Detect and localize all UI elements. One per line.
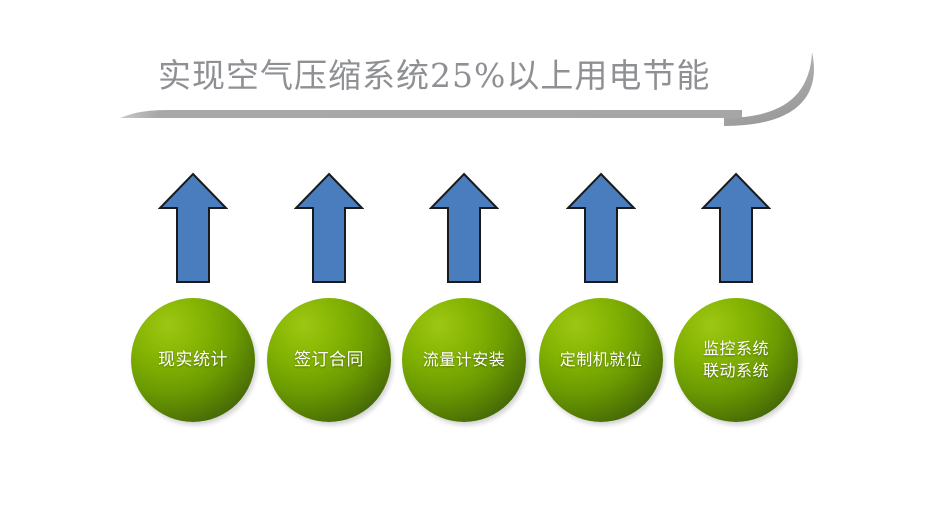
step-bubble-4[interactable]: 定制机就位 xyxy=(539,298,663,422)
up-arrow-icon-5 xyxy=(701,170,771,286)
banner-bar xyxy=(120,110,742,118)
process-steps: 现实统计 签订合同 流量计安装 定 xyxy=(0,160,945,440)
step-label-4: 定制机就位 xyxy=(556,349,647,371)
up-arrow-icon-1 xyxy=(158,170,228,286)
process-step-1[interactable]: 现实统计 xyxy=(125,160,261,440)
up-arrow-icon-3 xyxy=(429,170,499,286)
step-bubble-2[interactable]: 签订合同 xyxy=(267,298,391,422)
title-banner: 实现空气压缩系统25%以上用电节能 xyxy=(110,36,830,136)
process-step-2[interactable]: 签订合同 xyxy=(261,160,397,440)
process-step-5[interactable]: 监控系统 联动系统 xyxy=(668,160,804,440)
slide-canvas: 实现空气压缩系统25%以上用电节能 现实统计 签订合同 xyxy=(0,0,945,529)
page-title: 实现空气压缩系统25%以上用电节能 xyxy=(158,50,778,102)
step-label-1: 现实统计 xyxy=(154,349,232,372)
step-bubble-5[interactable]: 监控系统 联动系统 xyxy=(674,298,798,422)
step-label-5: 监控系统 联动系统 xyxy=(699,338,773,382)
step-bubble-3[interactable]: 流量计安装 xyxy=(402,298,526,422)
step-bubble-1[interactable]: 现实统计 xyxy=(131,298,255,422)
up-arrow-icon-2 xyxy=(294,170,364,286)
process-step-3[interactable]: 流量计安装 xyxy=(396,160,532,440)
step-label-3: 流量计安装 xyxy=(419,349,510,371)
up-arrow-icon-4 xyxy=(566,170,636,286)
process-step-4[interactable]: 定制机就位 xyxy=(533,160,669,440)
step-label-2: 签订合同 xyxy=(290,349,368,372)
